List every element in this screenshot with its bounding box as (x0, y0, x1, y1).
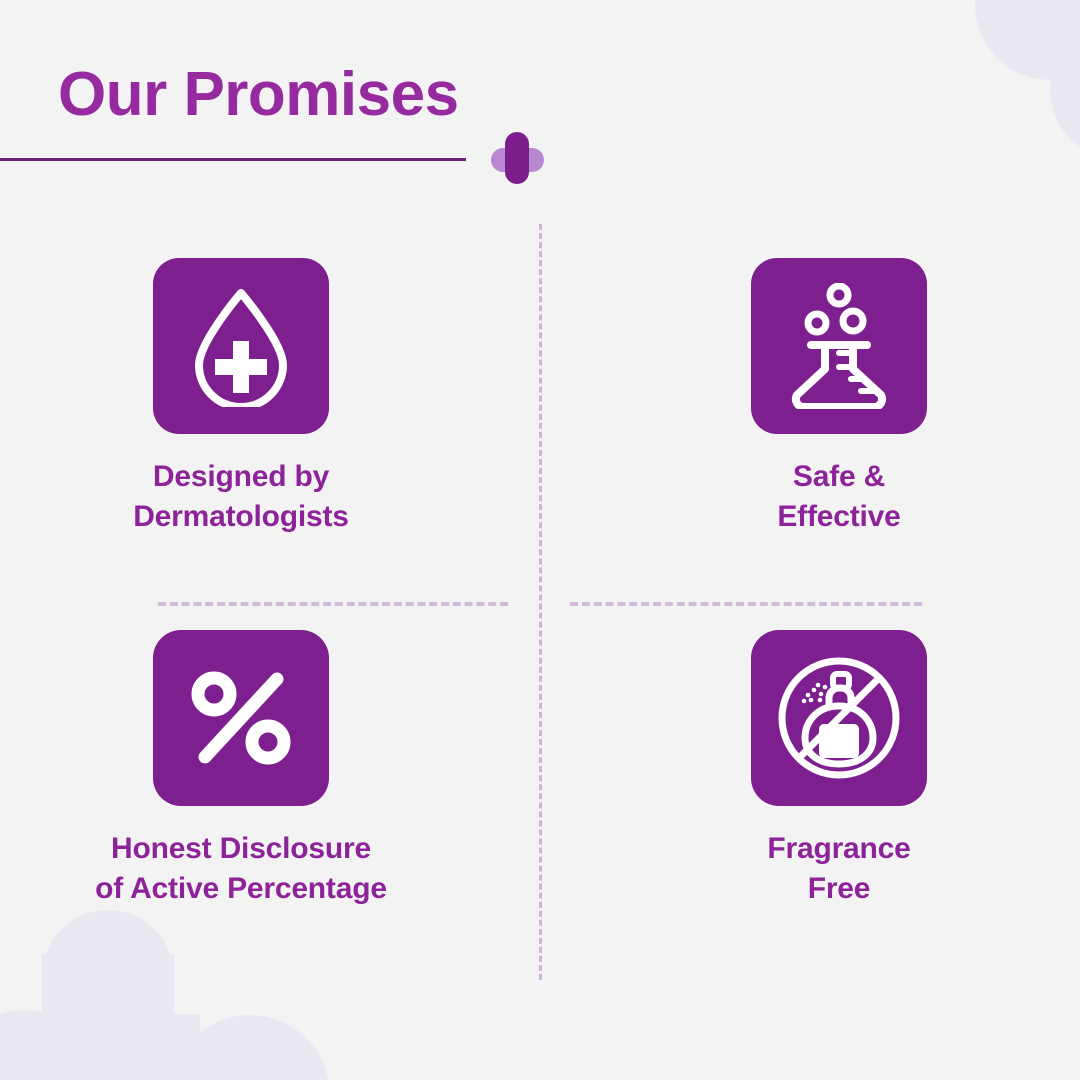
promise-label: Fragrance Free (767, 829, 910, 908)
promise-card-honest-disclosure: Honest Disclosure of Active Percentage (0, 630, 540, 1002)
blob-shape (1005, 0, 1080, 30)
droplet-plus-icon (185, 285, 297, 407)
title-underline-rule (0, 158, 466, 161)
header: Our Promises (0, 62, 1080, 127)
flask-bubbles-icon (781, 283, 897, 409)
promise-card-fragrance-free: Fragrance Free (540, 630, 1080, 1002)
promise-icon-tile (153, 258, 329, 434)
promise-icon-tile (751, 258, 927, 434)
promise-label: Safe & Effective (777, 457, 900, 536)
promise-grid: Designed by Dermatologists (0, 258, 1080, 1002)
promise-label: Honest Disclosure of Active Percentage (95, 829, 387, 908)
promise-icon-tile (153, 630, 329, 806)
promises-infographic: Our Promises Designed by Dermatologists (0, 0, 1080, 1080)
promise-card-safe-and-effective: Safe & Effective (540, 258, 1080, 630)
plus-vertical-bar (505, 132, 529, 184)
promise-icon-tile (751, 630, 927, 806)
page-title: Our Promises (0, 62, 1080, 127)
no-fragrance-icon (775, 654, 903, 782)
plus-decoration-icon (488, 132, 544, 188)
promise-card-designed-by-dermatologists: Designed by Dermatologists (0, 258, 540, 630)
promise-label: Designed by Dermatologists (133, 457, 349, 536)
percent-icon (189, 670, 293, 766)
